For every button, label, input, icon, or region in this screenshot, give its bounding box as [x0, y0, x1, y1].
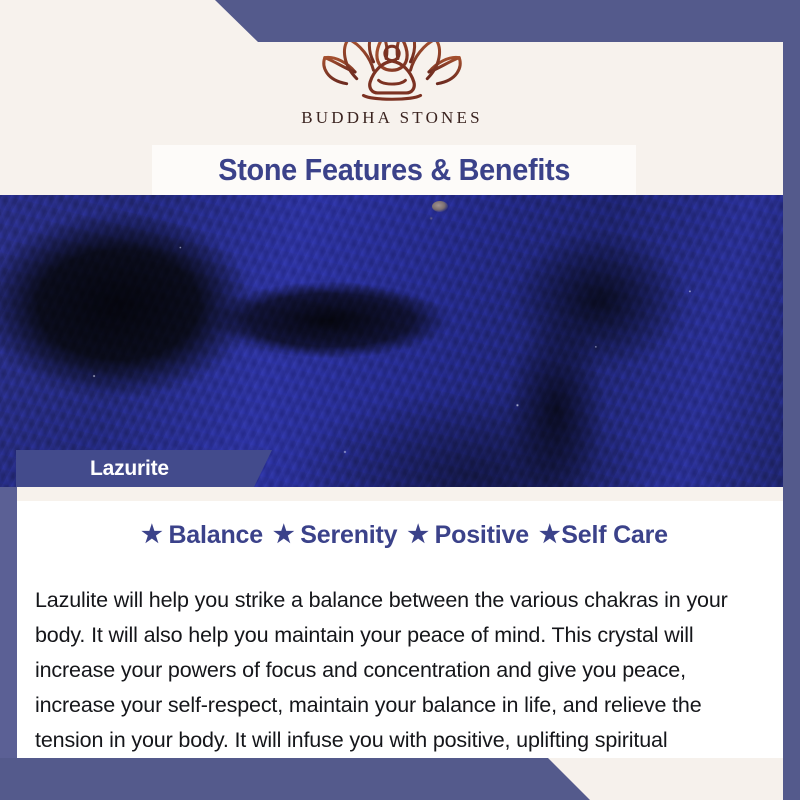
stone-speckle-overlay [0, 195, 784, 487]
star-icon: ★ [141, 521, 162, 548]
title-banner: Stone Features & Benefits [152, 145, 636, 195]
star-icon: ★ [273, 521, 294, 548]
brand-name: BUDDHA STONES [301, 108, 483, 128]
keyword-balance: Balance [168, 521, 263, 549]
stone-info-card: BUDDHA STONES Stone Features & Benefits … [0, 0, 800, 800]
keyword-positive: Positive [435, 521, 529, 549]
stone-photo [0, 195, 784, 487]
keyword-list: ★Balance★Serenity★Positive★Self Care [17, 521, 784, 550]
panel-top-strip [17, 487, 784, 501]
keyword-self-care: Self Care [561, 521, 668, 549]
star-icon: ★ [539, 521, 560, 548]
frame-accent-right [783, 0, 800, 800]
stone-inclusion-fleck [432, 201, 448, 212]
frame-accent-left [0, 487, 17, 800]
page-title: Stone Features & Benefits [218, 152, 570, 188]
keyword-serenity: Serenity [300, 521, 397, 549]
stone-name-banner: Lazurite [16, 450, 272, 487]
content-panel: ★Balance★Serenity★Positive★Self Care Laz… [17, 487, 784, 758]
star-icon: ★ [407, 521, 428, 548]
stone-name-label: Lazurite [90, 457, 169, 481]
